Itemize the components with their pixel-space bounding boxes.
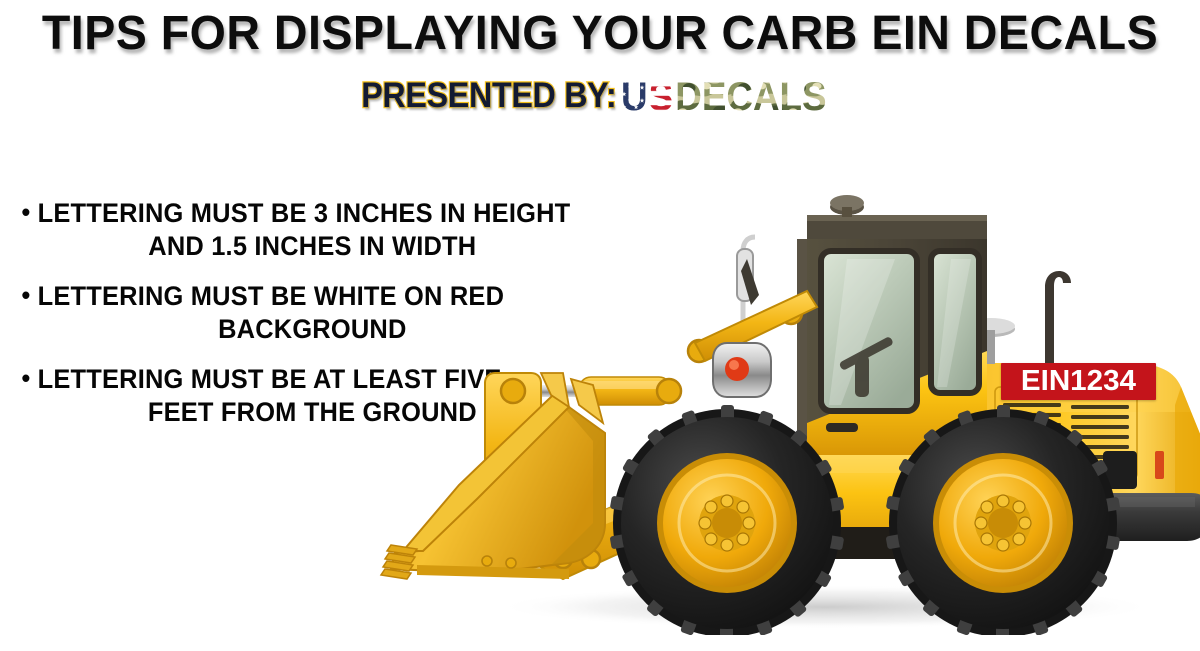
poster-canvas: TIPS FOR DISPLAYING YOUR CARB EIN DECALS… bbox=[0, 0, 1200, 651]
exhaust-stack bbox=[1045, 271, 1071, 363]
presented-by-label: PRESENTED BY: bbox=[361, 76, 616, 116]
page-title: TIPS FOR DISPLAYING YOUR CARB EIN DECALS bbox=[18, 6, 1182, 62]
door-handle bbox=[826, 423, 858, 432]
bullet-marker: • bbox=[21, 197, 30, 227]
ein-decal-text: EIN1234 bbox=[1021, 367, 1136, 396]
ein-decal-plate: EIN1234 bbox=[1001, 363, 1156, 400]
bullet-marker: • bbox=[21, 363, 30, 393]
usdecals-logo[interactable]: U S DECALS bbox=[621, 77, 861, 117]
svg-text:DECALS: DECALS bbox=[675, 77, 826, 117]
roof-beacon bbox=[830, 195, 864, 217]
brand-line: PRESENTED BY: bbox=[0, 76, 1200, 116]
tail-light bbox=[1155, 451, 1164, 479]
front-work-light bbox=[713, 343, 771, 397]
svg-text:S: S bbox=[648, 77, 673, 117]
bullet-marker: • bbox=[21, 280, 30, 310]
side-mirror bbox=[737, 237, 759, 325]
svg-text:U: U bbox=[621, 77, 648, 117]
